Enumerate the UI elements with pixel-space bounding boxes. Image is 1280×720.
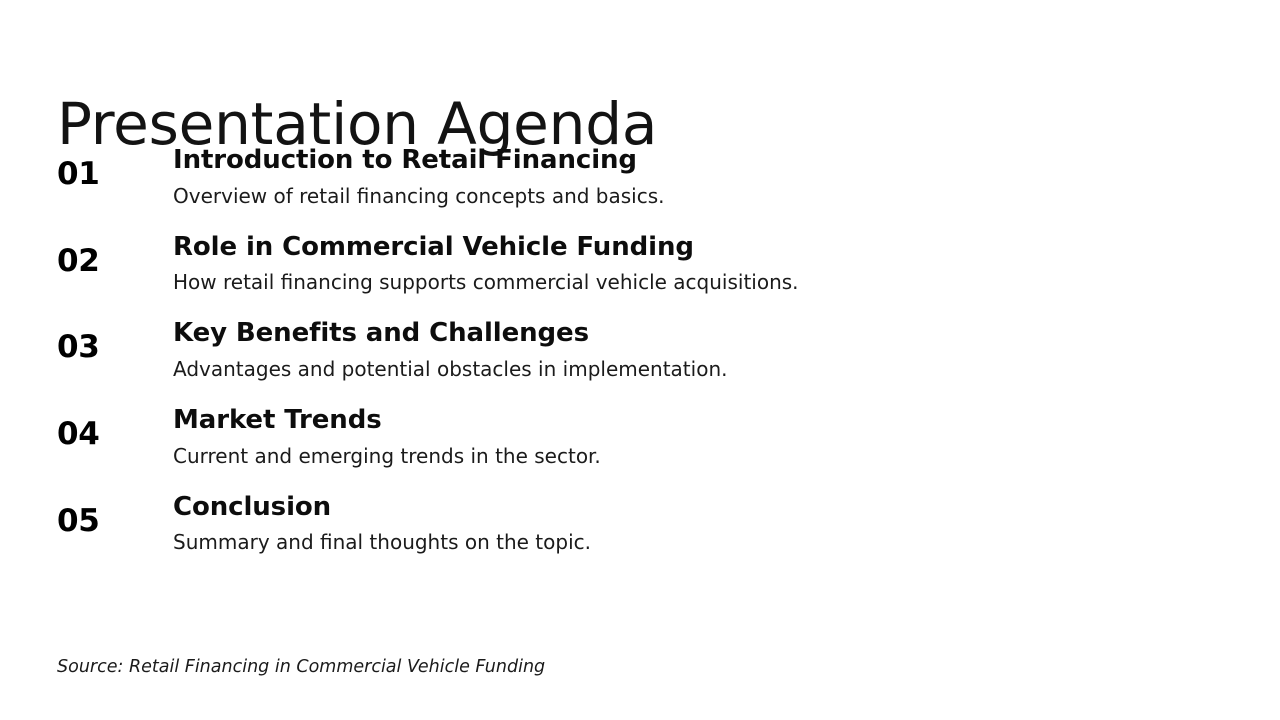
agenda-item-body: Role in Commercial Vehicle Funding How r… bbox=[173, 232, 1217, 295]
agenda-item-body: Key Benefits and Challenges Advantages a… bbox=[173, 318, 1217, 381]
agenda-item-title: Key Benefits and Challenges bbox=[173, 318, 1217, 349]
agenda-list: 01 Introduction to Retail Financing Over… bbox=[57, 145, 1217, 554]
agenda-item-number: 01 bbox=[57, 145, 173, 190]
agenda-item-title: Role in Commercial Vehicle Funding bbox=[173, 232, 1217, 263]
agenda-item-body: Introduction to Retail Financing Overvie… bbox=[173, 145, 1217, 208]
agenda-item-description: How retail financing supports commercial… bbox=[173, 270, 1217, 294]
agenda-item-body: Market Trends Current and emerging trend… bbox=[173, 405, 1217, 468]
agenda-item-number: 05 bbox=[57, 492, 173, 537]
agenda-item-number: 02 bbox=[57, 232, 173, 277]
agenda-item-title: Market Trends bbox=[173, 405, 1217, 436]
agenda-item-description: Advantages and potential obstacles in im… bbox=[173, 357, 1217, 381]
list-item[interactable]: 02 Role in Commercial Vehicle Funding Ho… bbox=[57, 232, 1217, 295]
list-item[interactable]: 01 Introduction to Retail Financing Over… bbox=[57, 145, 1217, 208]
agenda-item-description: Current and emerging trends in the secto… bbox=[173, 444, 1217, 468]
agenda-item-number: 04 bbox=[57, 405, 173, 450]
list-item[interactable]: 03 Key Benefits and Challenges Advantage… bbox=[57, 318, 1217, 381]
agenda-item-title: Introduction to Retail Financing bbox=[173, 145, 1217, 176]
agenda-item-number: 03 bbox=[57, 318, 173, 363]
agenda-item-description: Summary and final thoughts on the topic. bbox=[173, 530, 1217, 554]
presentation-slide: Presentation Agenda 01 Introduction to R… bbox=[0, 0, 1280, 720]
agenda-item-description: Overview of retail financing concepts an… bbox=[173, 184, 1217, 208]
agenda-item-title: Conclusion bbox=[173, 492, 1217, 523]
list-item[interactable]: 05 Conclusion Summary and final thoughts… bbox=[57, 492, 1217, 555]
source-citation: Source: Retail Financing in Commercial V… bbox=[57, 657, 545, 678]
agenda-item-body: Conclusion Summary and final thoughts on… bbox=[173, 492, 1217, 555]
list-item[interactable]: 04 Market Trends Current and emerging tr… bbox=[57, 405, 1217, 468]
